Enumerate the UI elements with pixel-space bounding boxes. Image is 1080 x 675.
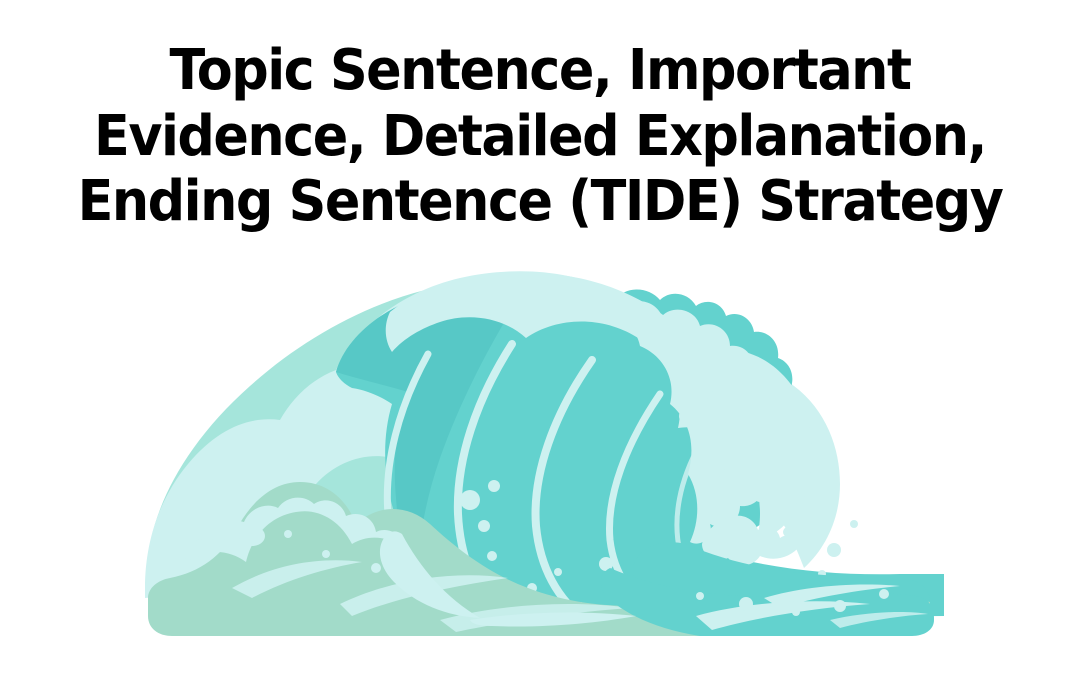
slide-canvas: Topic Sentence, Important Evidence, Deta… bbox=[0, 0, 1080, 675]
wave-svg bbox=[140, 268, 952, 640]
page-title: Topic Sentence, Important Evidence, Deta… bbox=[0, 38, 1080, 235]
title-line-2: Evidence, Detailed Explanation, bbox=[44, 104, 1035, 170]
title-line-3: Ending Sentence (TIDE) Strategy bbox=[44, 169, 1035, 235]
title-line-1: Topic Sentence, Important bbox=[44, 38, 1035, 104]
ocean-wave-illustration bbox=[140, 268, 952, 640]
